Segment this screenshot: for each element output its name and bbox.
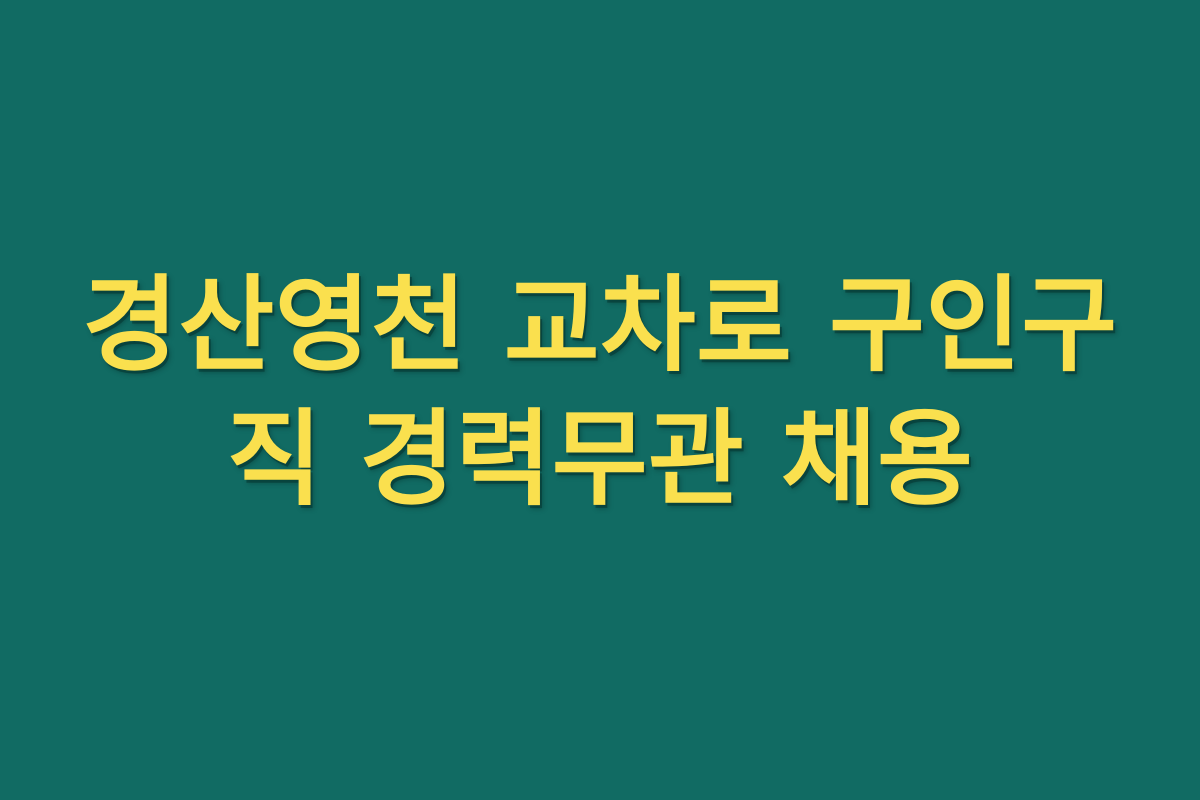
headline-line-1: 경산영천 교차로 구인구 [40, 267, 1160, 383]
headline-block: 경산영천 교차로 구인구 직 경력무관 채용 [0, 267, 1200, 518]
promo-banner: 경산영천 교차로 구인구 직 경력무관 채용 [0, 0, 1200, 800]
headline-line-2: 직 경력무관 채용 [40, 401, 1160, 517]
